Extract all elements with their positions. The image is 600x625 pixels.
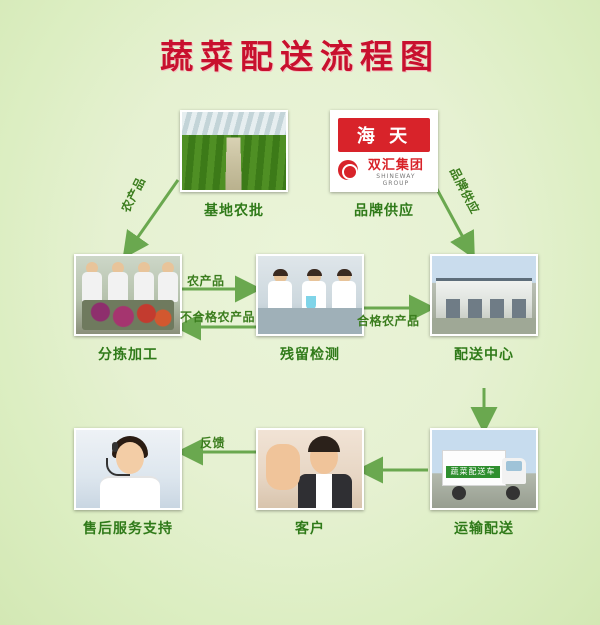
brand-bottom-sub: SHINEWAY GROUP	[362, 173, 430, 187]
node-customer-label: 客户	[256, 518, 364, 538]
edge-label-testing-to-center: 合格农产品	[357, 312, 420, 329]
distribution-warehouse-photo	[430, 254, 538, 336]
node-service-label: 售后服务支持	[74, 518, 182, 538]
brand-logo-card: 海 天 双汇集团 SHINEWAY GROUP	[330, 110, 438, 192]
node-sorting[interactable]: 分拣加工	[74, 254, 182, 364]
node-service[interactable]: 售后服务支持	[74, 428, 182, 538]
brand-top-banner: 海 天	[338, 118, 430, 152]
greenhouse-vegetable-field-photo	[180, 110, 288, 192]
call-center-agent-photo	[74, 428, 182, 510]
brand-mark-icon	[338, 160, 358, 180]
edge-label-brand-to-center: 品牌供应	[442, 157, 487, 224]
brand-bottom-banner: 双汇集团 SHINEWAY GROUP	[338, 156, 430, 184]
node-sorting-label: 分拣加工	[74, 344, 182, 364]
truck-banner-text: 蔬菜配送车	[446, 466, 500, 478]
node-base-label: 基地农批	[180, 200, 288, 220]
node-testing[interactable]: 残留检测	[256, 254, 364, 364]
node-brand[interactable]: 海 天 双汇集团 SHINEWAY GROUP 品牌供应	[330, 110, 438, 220]
edge-label-customer-to-service: 反馈	[200, 434, 225, 451]
edge-label-sorting-to-testing: 农产品	[187, 272, 225, 289]
customer-ok-gesture-photo	[256, 428, 364, 510]
edge-label-base-to-sorting: 农产品	[113, 166, 154, 224]
edge-label-testing-to-sorting: 不合格农产品	[180, 308, 255, 325]
node-center[interactable]: 配送中心	[430, 254, 538, 364]
brand-bottom-text: 双汇集团	[368, 158, 424, 173]
node-delivery-label: 运输配送	[430, 518, 538, 538]
lab-residue-testing-photo	[256, 254, 364, 336]
workers-sorting-vegetables-photo	[74, 254, 182, 336]
node-base[interactable]: 基地农批	[180, 110, 288, 220]
node-delivery[interactable]: 蔬菜配送车 运输配送	[430, 428, 538, 538]
node-testing-label: 残留检测	[256, 344, 364, 364]
node-brand-label: 品牌供应	[330, 200, 438, 220]
delivery-truck-photo: 蔬菜配送车	[430, 428, 538, 510]
page-title: 蔬菜配送流程图	[0, 30, 600, 78]
flowchart-canvas: 蔬菜配送流程图 基地农批	[0, 0, 600, 625]
node-center-label: 配送中心	[430, 344, 538, 364]
node-customer[interactable]: 客户	[256, 428, 364, 538]
brand-top-text: 海 天	[357, 122, 411, 148]
